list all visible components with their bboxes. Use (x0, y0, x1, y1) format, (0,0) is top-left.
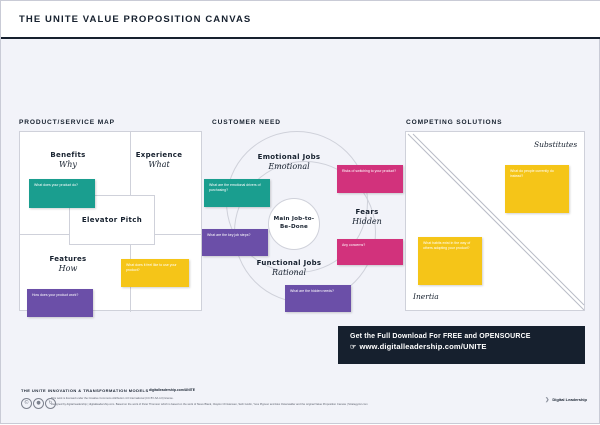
sticky-note-any-concerns[interactable]: Any concerns? (337, 239, 403, 265)
section-heading-product-service-map: PRODUCT/SERVICE MAP (19, 119, 115, 126)
footer-url[interactable]: digitalleadership.com/UNITE (149, 388, 195, 392)
section-heading-customer-need: CUSTOMER NEED (212, 119, 281, 126)
ring-emotional-subtitle: Emotional (234, 162, 344, 171)
diagonal-divider-icon (406, 132, 586, 312)
page-title: THE UNITE VALUE PROPOSITION CANVAS (19, 14, 251, 25)
by-icon: ● (33, 398, 44, 409)
sticky-note-emotional-drivers[interactable]: What are the emotional drivers of purcha… (204, 179, 270, 207)
label-substitutes: Substitutes (534, 140, 577, 149)
jtbd-line-2: Be-Done (274, 224, 315, 232)
ring-fears-title: Fears (339, 208, 395, 216)
jtbd-line-1: Main Job-to- (274, 216, 315, 224)
sticky-note-product-what-does-it-do[interactable]: What does your product do? (29, 179, 95, 208)
ring-label-emotional-jobs: Emotional Jobs Emotional (234, 153, 344, 171)
cta-headline: Get the Full Download For FREE and OPENS… (350, 333, 573, 340)
canvas-header: THE UNITE VALUE PROPOSITION CANVAS (1, 1, 600, 39)
ring-label-functional-jobs: Functional Jobs Rational (234, 259, 344, 277)
ring-functional-subtitle: Rational (234, 268, 344, 277)
section-heading-competing-solutions: COMPETING SOLUTIONS (406, 119, 502, 126)
main-job-to-be-done-label: Main Job-to- Be-Done (274, 216, 315, 231)
ring-label-fears: Fears Hidden (339, 208, 395, 226)
sticky-note-currently-do-instead[interactable]: What do people currently do instead? (505, 165, 569, 213)
ring-fears-subtitle: Hidden (339, 217, 395, 226)
quadrant-benefits: Benefits Why (25, 151, 111, 169)
value-proposition-canvas: THE UNITE VALUE PROPOSITION CANVAS PRODU… (0, 0, 600, 424)
quadrant-benefits-subtitle: Why (25, 160, 111, 169)
sticky-note-product-feel-like[interactable]: What does it feel like to use your produ… (121, 259, 189, 287)
cta-url-row[interactable]: ☞www.digitalleadership.com/UNITE (350, 342, 573, 351)
label-inertia: Inertia (413, 292, 439, 301)
canvas-footer: THE UNITE INNOVATION & TRANSFORMATION MO… (1, 379, 600, 425)
sticky-note-key-job-steps[interactable]: What are the key job steps? (202, 229, 268, 256)
quadrant-experience-title: Experience (119, 151, 199, 159)
quadrant-features-subtitle: How (25, 264, 111, 273)
brand-name: Digital Leadership (552, 397, 587, 402)
footer-license-text: This work is licensed under the Creative… (51, 397, 174, 400)
ring-functional-title: Functional Jobs (234, 259, 344, 267)
quadrant-experience-subtitle: What (119, 160, 199, 169)
sticky-note-hidden-needs[interactable]: What are the hidden needs? (285, 285, 351, 312)
cta-url: www.digitalleadership.com/UNITE (359, 342, 486, 351)
elevator-pitch-label: Elevator Pitch (82, 216, 142, 224)
quadrant-features-title: Features (25, 255, 111, 263)
chevron-right-icon: ❯ (545, 397, 549, 403)
main-job-to-be-done-circle[interactable]: Main Job-to- Be-Done (268, 198, 320, 250)
sticky-note-risks-of-switching[interactable]: Risks of switching to your product? (337, 165, 403, 193)
footer-credits-text: Designed by digital leadership | digital… (51, 403, 368, 406)
sticky-note-habits-in-the-way[interactable]: What habits exist in the way of others a… (418, 237, 482, 285)
ring-emotional-title: Emotional Jobs (234, 153, 344, 161)
download-cta-banner[interactable]: Get the Full Download For FREE and OPENS… (338, 326, 585, 364)
quadrant-benefits-title: Benefits (25, 151, 111, 159)
cc-icon: © (21, 398, 32, 409)
sticky-note-product-how-it-works[interactable]: How does your product work? (27, 289, 93, 317)
quadrant-features: Features How (25, 255, 111, 273)
quadrant-experience: Experience What (119, 151, 199, 169)
footer-title: THE UNITE INNOVATION & TRANSFORMATION MO… (21, 388, 149, 393)
pointing-hand-icon: ☞ (350, 343, 356, 351)
brand-logo: ❯Digital Leadership (545, 397, 587, 403)
sa-icon: ↻ (45, 398, 56, 409)
